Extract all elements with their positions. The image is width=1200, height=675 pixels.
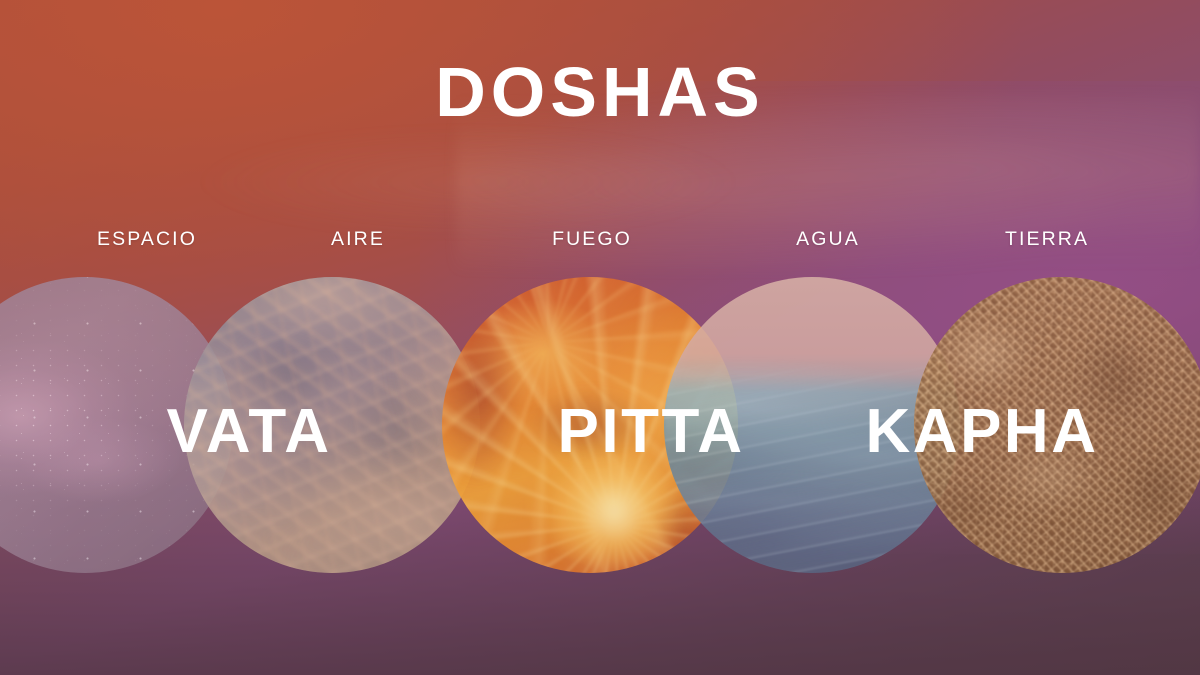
dosha-label-kapha: KAPHA <box>866 401 1099 463</box>
dosha-label-row: VATA PITTA KAPHA <box>0 0 1200 675</box>
doshas-infographic-slide: DOSHAS ESPACIO AIRE FUEGO AGUA TIERRA <box>0 0 1200 675</box>
dosha-label-vata: VATA <box>167 401 332 463</box>
dosha-label-pitta: PITTA <box>558 401 745 463</box>
